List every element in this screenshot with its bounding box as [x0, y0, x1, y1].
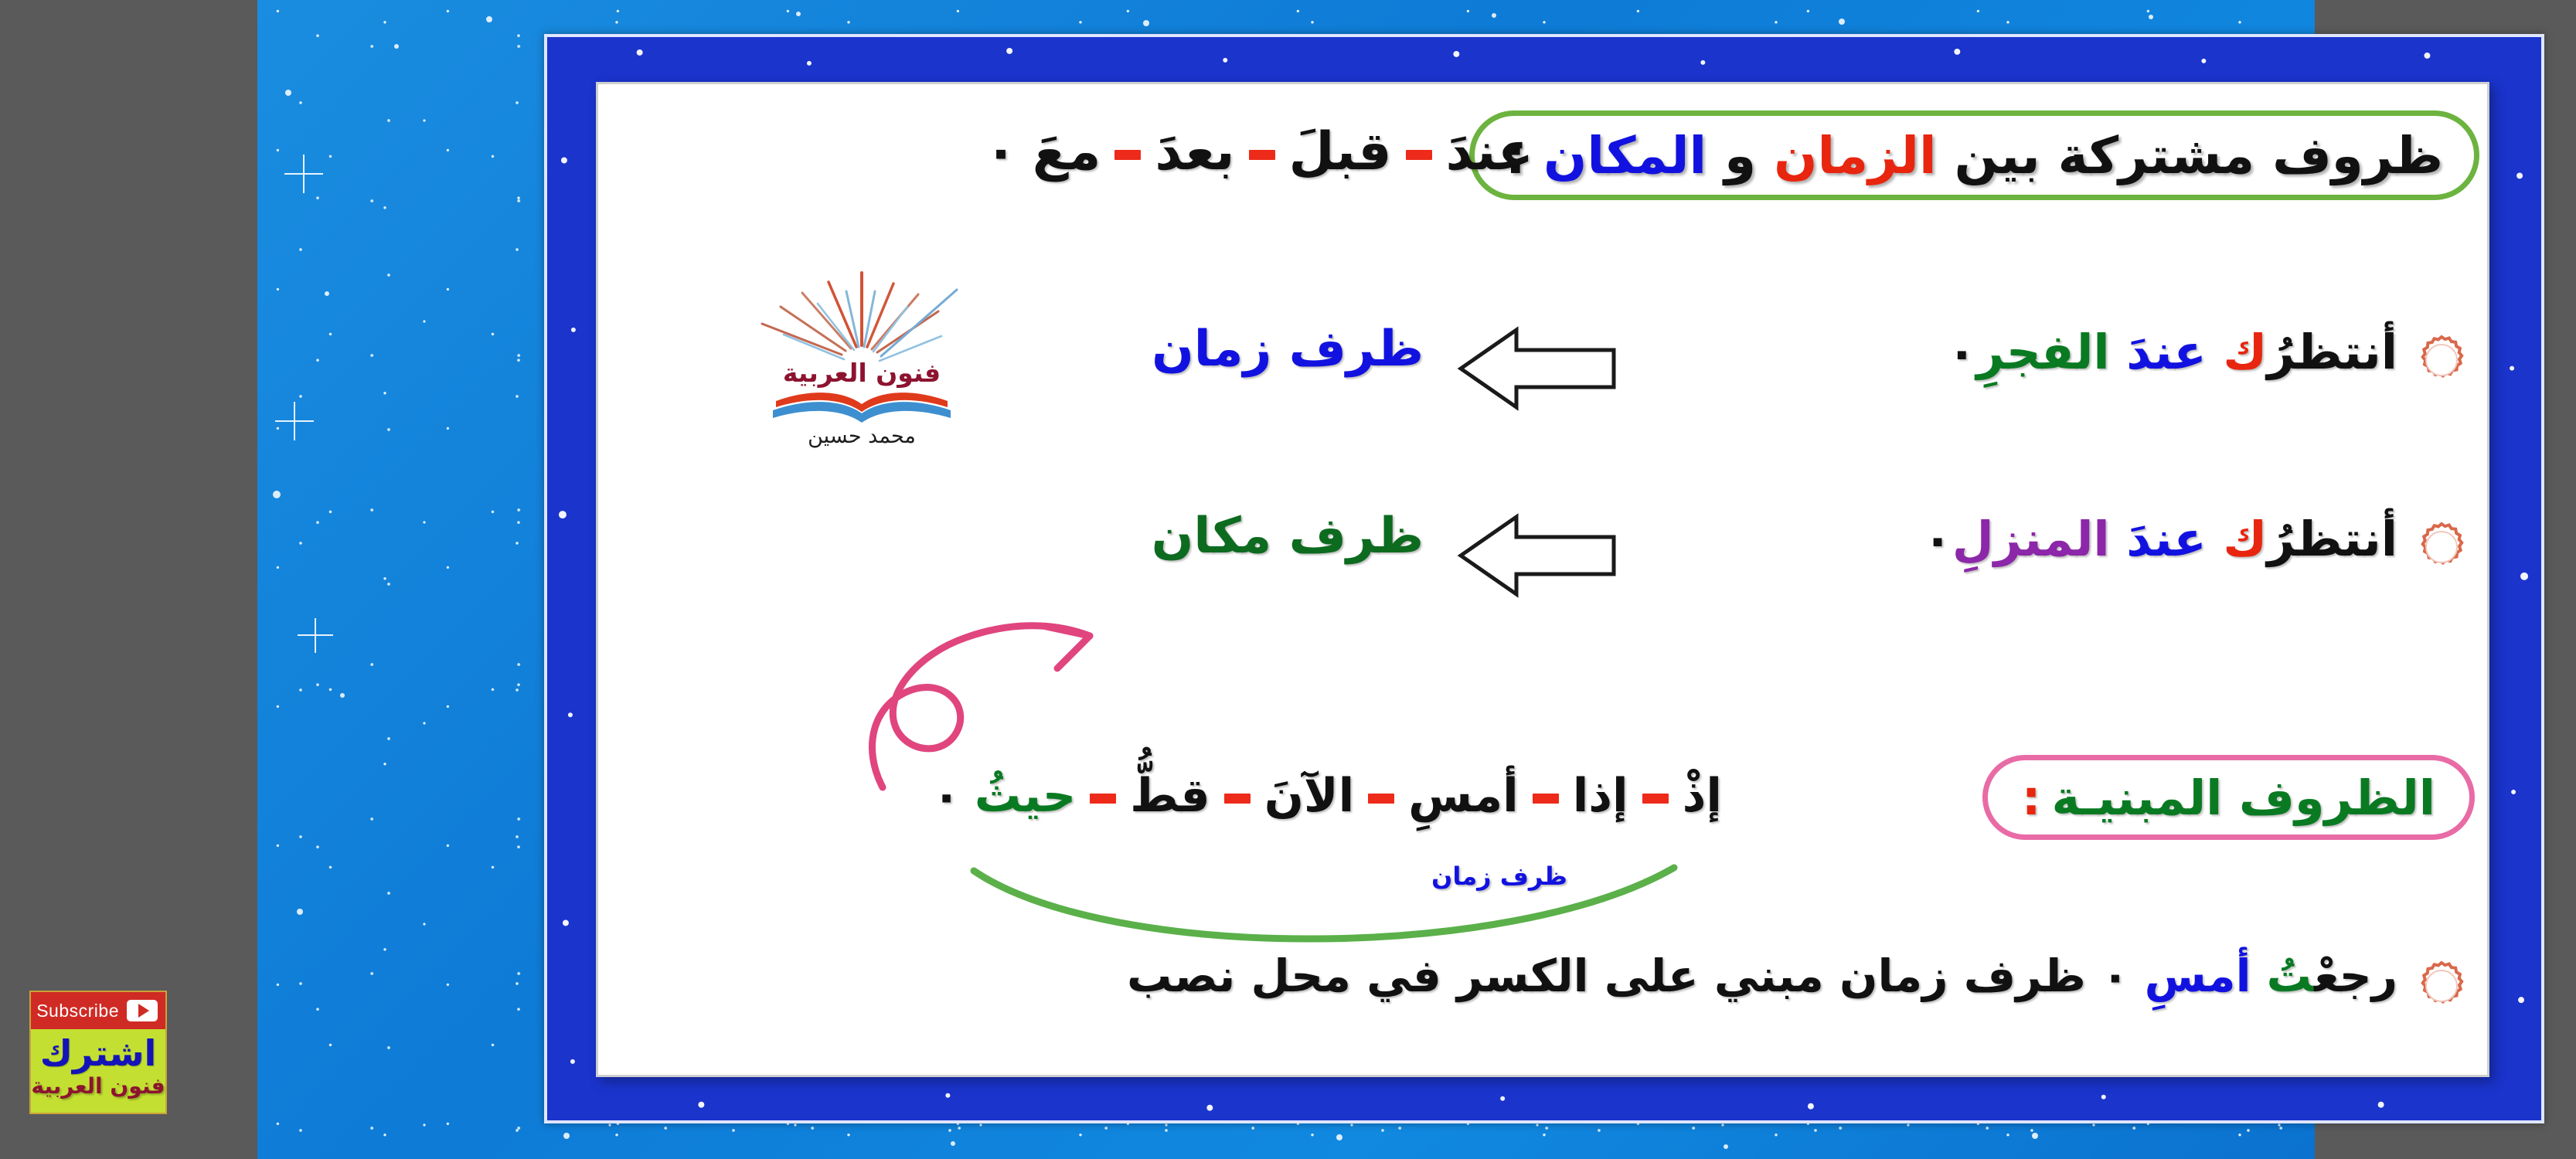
example-2-part-6: ۰: [1923, 511, 1952, 567]
built-adverbs-title-pill: الظروف المبنيـة:: [1982, 755, 2475, 840]
example-sentence-2: أنتظرُك عندَ المنزلِ۰: [1923, 511, 2397, 567]
green-underline-arc-annotation: [969, 863, 1680, 956]
example-2-part-1: ك: [2223, 511, 2267, 567]
example-2-part-3: عندَ: [2126, 511, 2206, 567]
left-block-arrow-icon-1: [1456, 322, 1618, 415]
header-title-part-0: ظروف مشتركة بين: [1937, 126, 2443, 185]
gear-circle-bullet-icon: [2416, 960, 2467, 1011]
built-adverb-word-2: أمسِ: [1408, 769, 1519, 823]
example-2-space-0: [2207, 511, 2224, 567]
example-1-part-5: الفجرِ: [1976, 324, 2109, 380]
header-title-part-1: الزمان: [1774, 126, 1936, 185]
arc-annotation-label: ظرف زمان: [1431, 862, 1567, 891]
example-1-space-0: [2207, 324, 2224, 380]
left-block-arrow-icon-2: [1456, 509, 1618, 602]
word-separator-dash-icon: [1368, 794, 1394, 804]
example-1-part-1: ك: [2223, 324, 2267, 380]
mabniya-title: الظروف المبنيـة: [2052, 770, 2435, 826]
pink-curly-arrow-annotation-icon: [791, 556, 1116, 795]
built-adverb-word-4: قطُّ: [1130, 769, 1210, 823]
example-2-part-5: المنزلِ: [1952, 511, 2110, 567]
header-title: ظروف مشتركة بين الزمان و المكان :: [1506, 126, 2443, 185]
shared-adverb-word-0: عندَ: [1446, 121, 1534, 182]
word-separator-dash-icon: [1090, 794, 1116, 804]
header-title-part-3: المكان: [1543, 126, 1707, 185]
example-1-label: ظرف زمان: [1152, 321, 1424, 378]
header-row: ظروف مشتركة بين الزمان و المكان : عندَقب…: [598, 104, 2489, 220]
example-2-label: ظرف مكان: [1152, 508, 1424, 565]
example-2-part-0: أنتظرُ: [2267, 511, 2397, 567]
word-list-terminator: ۰: [985, 121, 1017, 182]
built-word-list-terminator: ۰: [932, 769, 961, 823]
mabniya-colon: :: [2022, 770, 2041, 826]
shared-adverb-word-3: معَ: [1033, 121, 1101, 182]
play-icon: [127, 1000, 158, 1021]
shared-adverb-word-2: بعدَ: [1155, 121, 1234, 182]
built-adverbs-word-list: إذْإذاأمسِالآنَقطُّحيثُ۰: [932, 769, 1722, 823]
subscribe-badge[interactable]: Subscribe اشترك فنون العربية: [29, 991, 167, 1114]
slide-content-card: ظروف مشتركة بين الزمان و المكان : عندَقب…: [596, 82, 2489, 1077]
shared-adverbs-title-pill: ظروف مشتركة بين الزمان و المكان :: [1469, 110, 2479, 200]
subscribe-bar[interactable]: Subscribe: [31, 992, 165, 1029]
subscribe-label-en: Subscribe: [36, 1001, 119, 1021]
word-separator-dash-icon: [1249, 150, 1275, 160]
watermark-author-text: محمد حسين: [808, 424, 916, 448]
shared-adverb-word-1: قبلَ: [1289, 121, 1392, 182]
header-title-part-2: و: [1707, 126, 1774, 185]
analysis-part-0: رجعْ: [2314, 950, 2397, 1002]
shared-adverbs-word-list: عندَقبلَبعدَمعَ۰: [985, 121, 1533, 182]
example-1-part-0: أنتظرُ: [2267, 324, 2397, 380]
analysis-part-1: تُ: [2267, 950, 2314, 1002]
example-1-space-1: [2110, 324, 2127, 380]
analysis-space-0: [2251, 950, 2266, 1002]
gear-circle-bullet-icon: [2416, 335, 2467, 386]
example-sentence-1: أنتظرُك عندَ الفجرِ۰: [1947, 324, 2397, 380]
example-1-part-6: ۰: [1947, 324, 1976, 380]
gear-circle-bullet-icon: [2416, 522, 2467, 573]
example-2-space-1: [2110, 511, 2127, 567]
brand-watermark-logo: فنون العربية محمد حسين: [742, 271, 982, 449]
built-adverb-word-3: الآنَ: [1264, 769, 1354, 823]
analysis-part-3: أمسِ: [2145, 950, 2251, 1002]
subscribe-label-ar: اشترك: [31, 1035, 165, 1071]
analysis-part-5: ظرف زمان مبني على الكسر في محل نصب: [1127, 950, 2086, 1002]
subscribe-channel-name: فنون العربية: [31, 1076, 165, 1097]
built-adverb-word-1: إذا: [1573, 769, 1628, 823]
mabniya-title-wrap: الظروف المبنيـة:: [2022, 770, 2435, 826]
watermark-brand-text: فنون العربية: [783, 358, 941, 389]
built-adverb-word-0: إذْ: [1683, 769, 1722, 823]
analysis-sentence: رجعْتُ أمسِ ۰ ظرف زمان مبني على الكسر في…: [1127, 950, 2397, 1002]
word-separator-dash-icon: [1114, 150, 1141, 160]
slide-frame: ظروف مشتركة بين الزمان و المكان : عندَقب…: [257, 0, 2315, 1159]
example-1-part-3: عندَ: [2126, 324, 2206, 380]
analysis-separator: ۰: [2086, 950, 2145, 1002]
word-separator-dash-icon: [1224, 794, 1251, 804]
word-separator-dash-icon: [1406, 150, 1432, 160]
built-adverb-word-5: حيثُ: [975, 769, 1076, 823]
word-separator-dash-icon: [1533, 794, 1559, 804]
word-separator-dash-icon: [1642, 794, 1669, 804]
